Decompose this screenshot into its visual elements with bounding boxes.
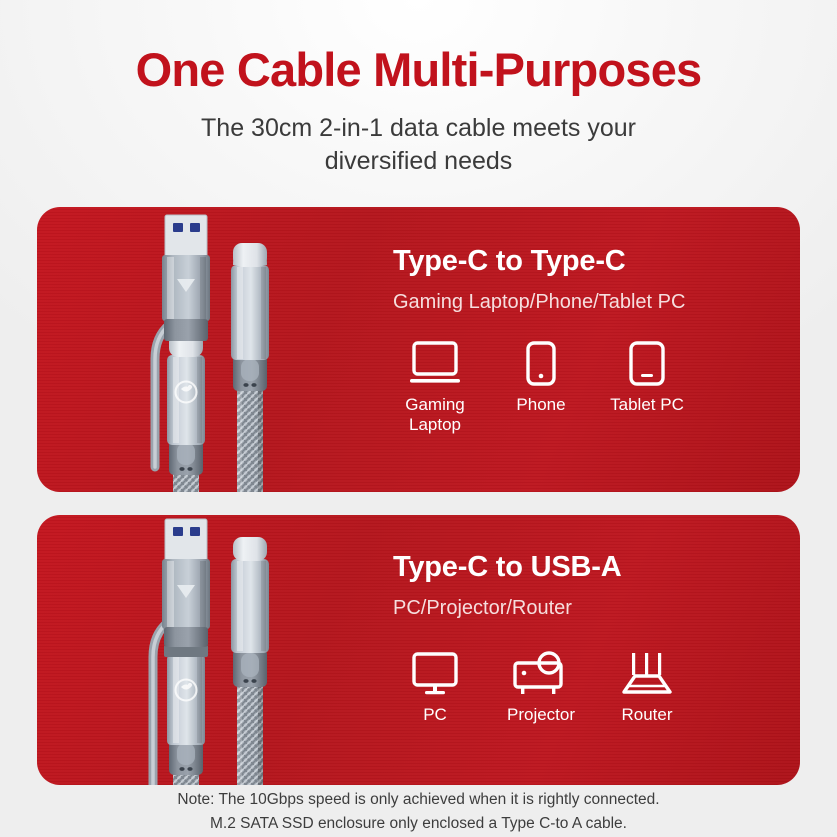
usb-a-adapter-cap-attached (162, 519, 210, 785)
device-label-gaming-laptop: GamingLaptop (405, 395, 465, 435)
router-icon (619, 646, 675, 698)
device-label-pc: PC (423, 705, 447, 725)
page-subtitle: The 30cm 2-in-1 data cable meets your di… (0, 112, 837, 179)
device-item-pc[interactable]: PC (393, 646, 477, 725)
device-item-gaming-laptop[interactable]: GamingLaptop (393, 336, 477, 435)
page-subtitle-line-1: The 30cm 2-in-1 data cable meets your (0, 112, 837, 146)
tablet-icon (626, 336, 668, 388)
cable-image-type-c-to-type-c (137, 207, 367, 492)
panel-2-title: Type-C to USB-A (393, 551, 793, 584)
footer-note-line-1: Note: The 10Gbps speed is only achieved … (0, 788, 837, 812)
panel-2-text-block: Type-C to USB-A PC/Projector/Router PC (393, 551, 793, 725)
page-subtitle-line-2: diversified needs (0, 145, 837, 179)
cable-image-type-c-to-usb-a (137, 515, 367, 785)
type-c-connector-right (231, 537, 269, 785)
type-c-connector-left (167, 333, 205, 492)
device-label-router: Router (621, 705, 672, 725)
footer-note-line-2: M.2 SATA SSD enclosure only enclosed a T… (0, 812, 837, 836)
device-item-tablet-pc[interactable]: Tablet PC (605, 336, 689, 415)
phone-icon (522, 336, 560, 388)
usb-a-adapter-cap (162, 215, 210, 341)
device-label-tablet-pc: Tablet PC (610, 395, 684, 415)
panel-2-device-list: PC Projector (393, 646, 793, 725)
feature-panel-type-c-to-type-c: Type-C to Type-C Gaming Laptop/Phone/Tab… (37, 207, 800, 492)
cable-tether-loop (155, 325, 169, 467)
panel-1-subtitle: Gaming Laptop/Phone/Tablet PC (393, 291, 793, 314)
panel-1-text-block: Type-C to Type-C Gaming Laptop/Phone/Tab… (393, 245, 793, 435)
monitor-icon (408, 646, 462, 698)
footer-note: Note: The 10Gbps speed is only achieved … (0, 788, 837, 835)
page-title: One Cable Multi-Purposes (0, 44, 837, 96)
projector-icon (511, 646, 571, 698)
laptop-icon (408, 336, 462, 388)
type-c-connector-right (231, 243, 269, 492)
device-label-phone: Phone (516, 395, 565, 415)
product-feature-page: One Cable Multi-Purposes The 30cm 2-in-1… (0, 0, 837, 837)
device-item-phone[interactable]: Phone (499, 336, 583, 415)
panel-2-subtitle: PC/Projector/Router (393, 597, 793, 620)
device-item-projector[interactable]: Projector (499, 646, 583, 725)
device-label-projector: Projector (507, 705, 575, 725)
device-item-router[interactable]: Router (605, 646, 689, 725)
panel-1-device-list: GamingLaptop Phone (393, 336, 793, 435)
panel-1-title: Type-C to Type-C (393, 245, 793, 278)
feature-panel-type-c-to-usb-a: Type-C to USB-A PC/Projector/Router PC (37, 515, 800, 785)
page-header: One Cable Multi-Purposes The 30cm 2-in-1… (0, 0, 837, 179)
